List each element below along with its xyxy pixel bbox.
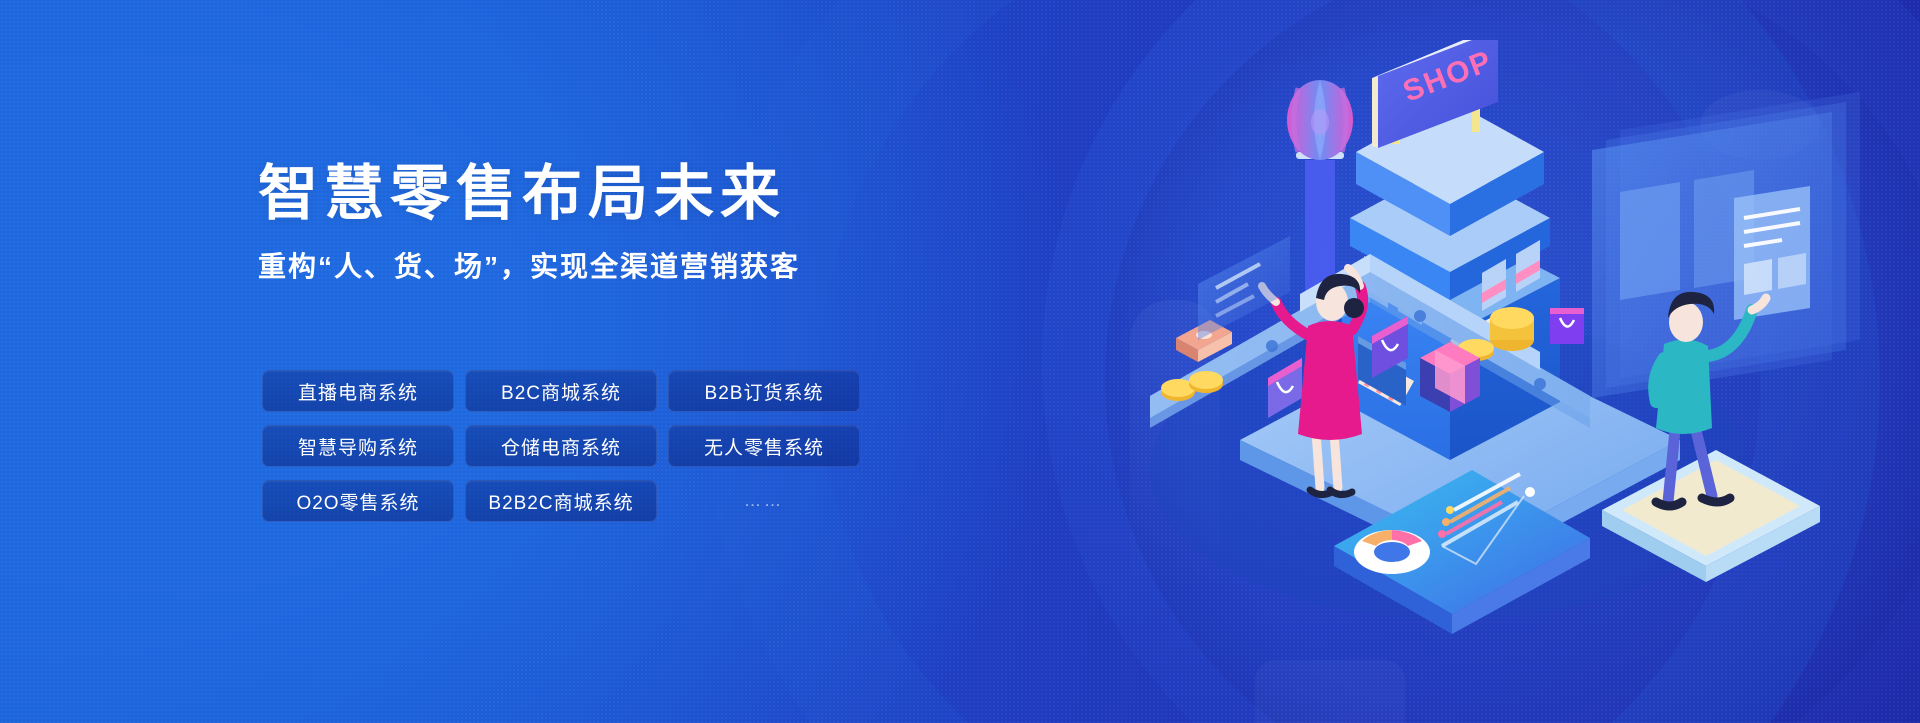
tag-live-commerce[interactable]: 直播电商系统 (262, 370, 454, 412)
tag-warehouse-ecom[interactable]: 仓储电商系统 (465, 425, 657, 467)
tag-b2c-mall[interactable]: B2C商城系统 (465, 370, 657, 412)
tag-smart-guide[interactable]: 智慧导购系统 (262, 425, 454, 467)
man-screen-group (1592, 92, 1860, 582)
headline-block: 智慧零售布局未来 重构“人、货、场”，实现全渠道营销获客 (258, 160, 800, 285)
tag-o2o-retail[interactable]: O2O零售系统 (262, 480, 454, 522)
product-tag-grid: 直播电商系统 B2C商城系统 B2B订货系统 智慧导购系统 仓储电商系统 无人零… (262, 370, 860, 522)
tag-icon-purple (1550, 308, 1584, 344)
tag-b2b-ordering[interactable]: B2B订货系统 (668, 370, 860, 412)
tag-unmanned-retail[interactable]: 无人零售系统 (668, 425, 860, 467)
donut-chart (1354, 530, 1430, 574)
page-title: 智慧零售布局未来 (258, 160, 800, 227)
tag-more-ellipsis: …… (668, 480, 860, 522)
tag-b2b2c-mall[interactable]: B2B2C商城系统 (465, 480, 657, 522)
isometric-retail-illustration: SHOP (1120, 40, 1920, 700)
page-subtitle: 重构“人、货、场”，实现全渠道营销获客 (258, 245, 800, 285)
retail-promo-banner: 智慧零售布局未来 重构“人、货、场”，实现全渠道营销获客 直播电商系统 B2C商… (0, 0, 1920, 723)
